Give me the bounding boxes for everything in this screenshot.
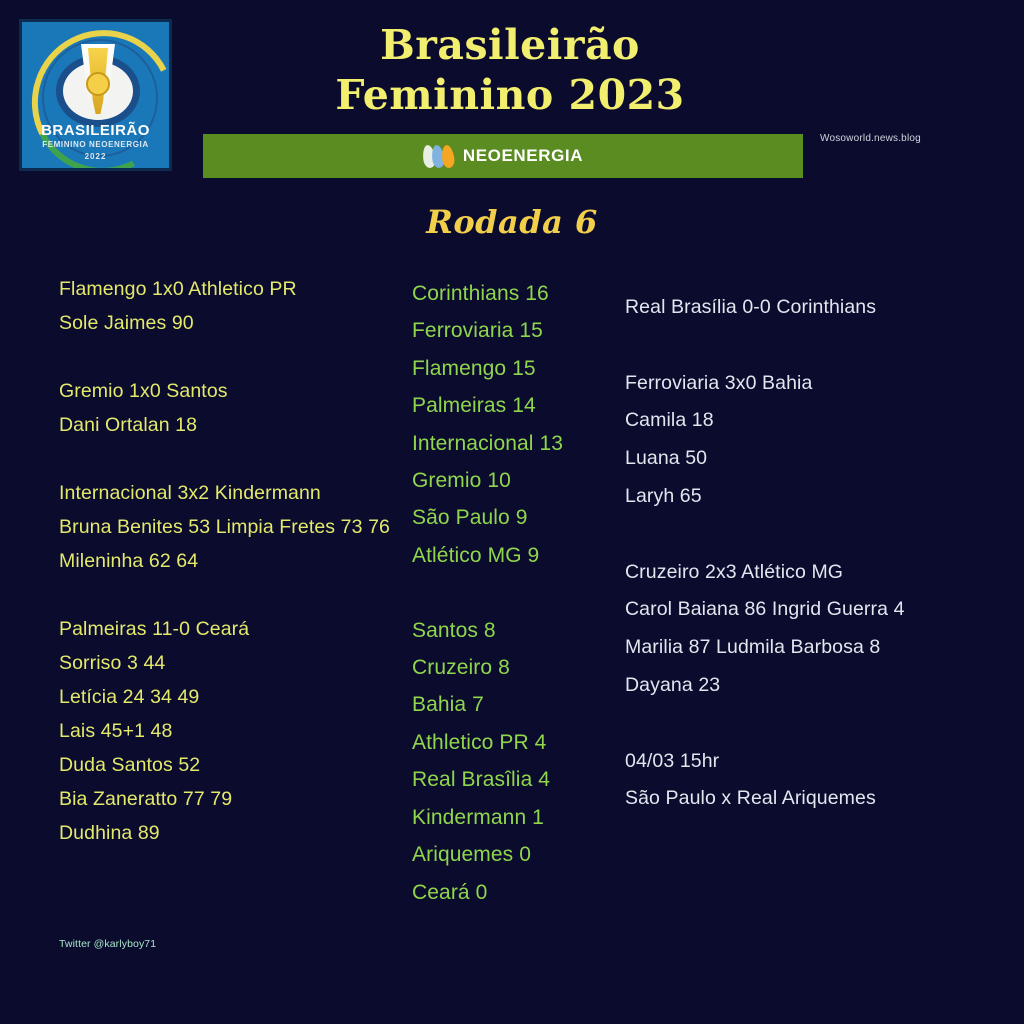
twitter-credit: Twitter @karlyboy71 <box>59 938 156 950</box>
text-line: Ferroviaria 15 <box>412 312 612 349</box>
text-line: Flamengo 1x0 Athletico PR <box>59 272 409 306</box>
brasileirao-logo-badge: BRASILEIRÃO FEMININO NEOENERGIA 2022 <box>19 19 172 171</box>
text-line: Flamengo 15 <box>412 350 612 387</box>
page-title: Brasileirão Feminino 2023 <box>280 20 740 120</box>
watermark: Wosoworld.news.blog <box>820 133 921 144</box>
text-line: Internacional 13 <box>412 425 612 462</box>
text-line: Mileninha 62 64 <box>59 544 409 578</box>
text-line: Gremio 1x0 Santos <box>59 374 409 408</box>
neoenergia-leaf-icon <box>423 144 457 168</box>
text-line: Santos 8 <box>412 612 612 649</box>
text-line: Lais 45+1 48 <box>59 714 409 748</box>
text-line: Real Brasília 0-0 Corinthians <box>625 289 1015 327</box>
text-line: Palmeiras 14 <box>412 387 612 424</box>
cbf-emblem-icon <box>86 72 110 96</box>
fixtures-column: Real Brasília 0-0 Corinthians Ferroviari… <box>625 289 1015 818</box>
logo-line-3: 2022 <box>22 152 169 161</box>
page-title-line-2: Feminino 2023 <box>280 70 740 120</box>
text-line: Kindermann 1 <box>412 799 612 836</box>
logo-line-1: BRASILEIRÃO <box>22 122 169 139</box>
text-line: Sole Jaimes 90 <box>59 306 409 340</box>
sponsor-name: NEOENERGIA <box>463 146 583 166</box>
text-line: Marilia 87 Ludmila Barbosa 8 <box>625 629 1015 667</box>
text-line: 04/03 15hr <box>625 743 1015 781</box>
text-line: Atlético MG 9 <box>412 537 612 574</box>
text-line: Dayana 23 <box>625 667 1015 705</box>
text-line: Dudhina 89 <box>59 816 409 850</box>
text-line: Corinthians 16 <box>412 275 612 312</box>
text-line: Bruna Benites 53 Limpia Fretes 73 76 <box>59 510 409 544</box>
text-line: Ferroviaria 3x0 Bahia <box>625 365 1015 403</box>
page-title-line-1: Brasileirão <box>280 20 740 70</box>
text-line: São Paulo 9 <box>412 499 612 536</box>
text-line: Palmeiras 11-0 Ceará <box>59 612 409 646</box>
text-line: Cruzeiro 2x3 Atlético MG <box>625 554 1015 592</box>
text-line: Sorriso 3 44 <box>59 646 409 680</box>
text-line: Athletico PR 4 <box>412 724 612 761</box>
text-line: Bia Zaneratto 77 79 <box>59 782 409 816</box>
header: BRASILEIRÃO FEMININO NEOENERGIA 2022 Bra… <box>0 0 1024 195</box>
text-line: Gremio 10 <box>412 462 612 499</box>
round-title: Rodada 6 <box>0 203 1024 241</box>
text-line: Duda Santos 52 <box>59 748 409 782</box>
text-line: Internacional 3x2 Kindermann <box>59 476 409 510</box>
text-line: Camila 18 <box>625 402 1015 440</box>
text-line: Letícia 24 34 49 <box>59 680 409 714</box>
results-column: Flamengo 1x0 Athletico PRSole Jaimes 90 … <box>59 272 409 850</box>
text-line: Cruzeiro 8 <box>412 649 612 686</box>
text-line: Dani Ortalan 18 <box>59 408 409 442</box>
logo-line-2: FEMININO NEOENERGIA <box>22 140 169 149</box>
text-line: Luana 50 <box>625 440 1015 478</box>
text-line: Bahia 7 <box>412 686 612 723</box>
text-line: Carol Baiana 86 Ingrid Guerra 4 <box>625 591 1015 629</box>
text-line: Ceará 0 <box>412 874 612 911</box>
text-line: Ariquemes 0 <box>412 836 612 873</box>
text-line: Real Brasîlia 4 <box>412 761 612 798</box>
standings-column: Corinthians 16Ferroviaria 15Flamengo 15P… <box>412 275 612 911</box>
sponsor-banner: NEOENERGIA <box>203 134 803 178</box>
text-line: São Paulo x Real Ariquemes <box>625 780 1015 818</box>
text-line: Laryh 65 <box>625 478 1015 516</box>
